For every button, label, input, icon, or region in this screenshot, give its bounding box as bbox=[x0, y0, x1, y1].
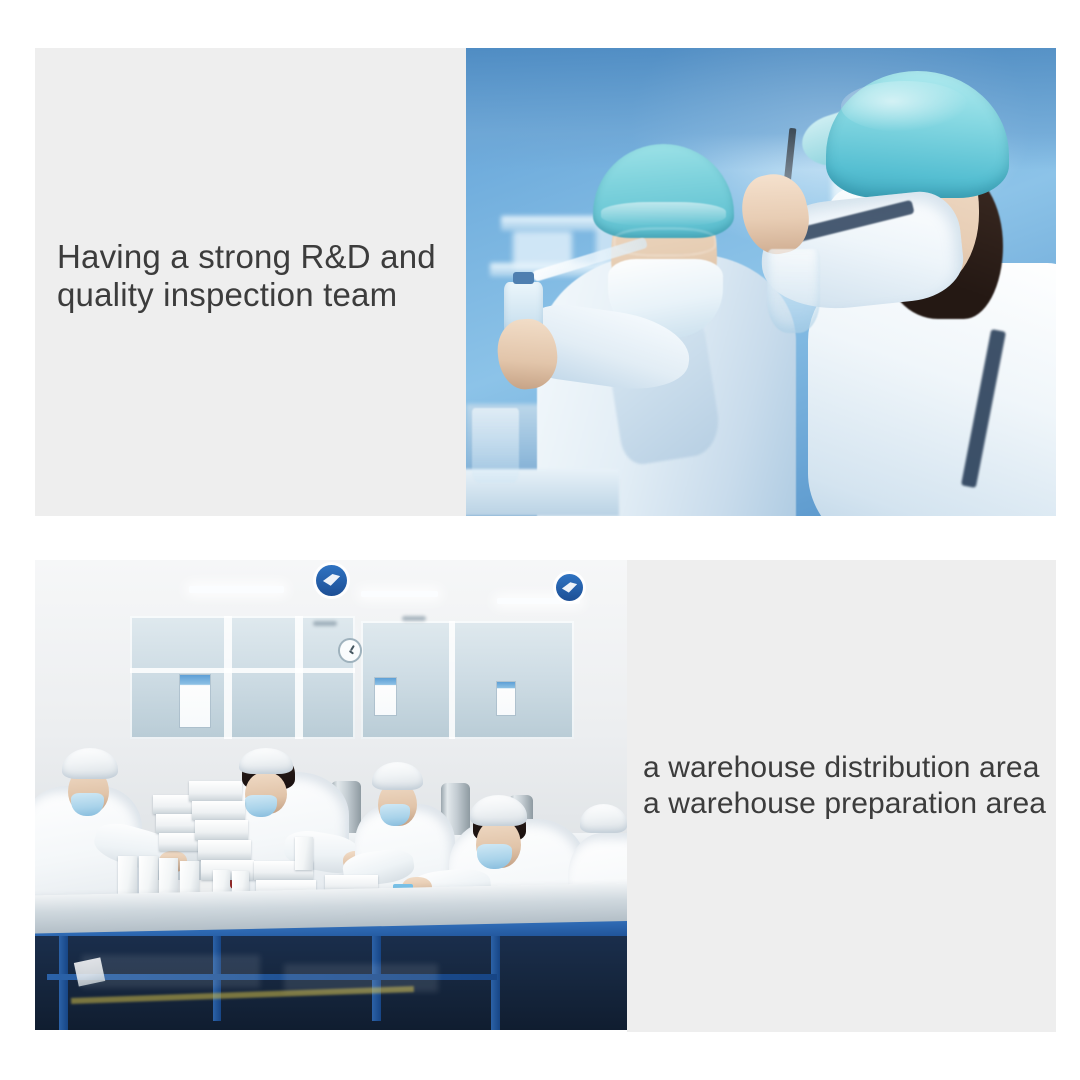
caption-panel-rd: Having a strong R&D and quality inspecti… bbox=[35, 48, 466, 516]
warehouse-scene bbox=[35, 560, 627, 1030]
table-leg bbox=[59, 936, 68, 1030]
carton-box bbox=[118, 856, 137, 898]
window-mullion bbox=[295, 616, 302, 738]
lab-quality-inspection-photo bbox=[466, 48, 1056, 516]
ceiling-light-icon bbox=[361, 591, 438, 598]
table-leg bbox=[491, 936, 500, 1030]
caption-rd-quality: Having a strong R&D and quality inspecti… bbox=[57, 238, 457, 315]
wall-hook-icon bbox=[313, 621, 337, 626]
carton-box bbox=[192, 801, 245, 821]
ceiling-light-icon bbox=[189, 586, 284, 594]
floor-reflection bbox=[82, 955, 260, 988]
carton-box bbox=[295, 837, 313, 870]
window-mullion bbox=[224, 616, 231, 738]
carton-box bbox=[195, 820, 248, 840]
carton-box bbox=[74, 957, 105, 986]
floor-reflection bbox=[284, 964, 438, 992]
blue-circular-sign-icon bbox=[316, 565, 347, 596]
lab-scene bbox=[466, 48, 1056, 516]
warehouse-packing-photo bbox=[35, 560, 627, 1030]
caption-panel-warehouse: a warehouse distribution area a warehous… bbox=[627, 560, 1056, 1032]
notice-poster-icon bbox=[180, 675, 210, 727]
section-rd-quality: Having a strong R&D and quality inspecti… bbox=[35, 48, 1056, 516]
section-warehouse: a warehouse distribution area a warehous… bbox=[35, 560, 1056, 1032]
face-mask-icon bbox=[245, 795, 277, 817]
window-mullion bbox=[449, 621, 455, 739]
beaker-icon bbox=[472, 408, 519, 483]
notice-poster-icon bbox=[375, 678, 395, 716]
cleanroom-window bbox=[130, 616, 355, 738]
wall-clock-icon bbox=[340, 640, 360, 661]
wall-hook-icon bbox=[402, 616, 426, 621]
caption-warehouse: a warehouse distribution area a warehous… bbox=[643, 750, 1063, 822]
carton-box bbox=[189, 781, 242, 801]
glass-flask-icon bbox=[767, 249, 820, 333]
window-mullion bbox=[130, 668, 355, 673]
hairnet-cap-icon bbox=[580, 804, 627, 832]
notice-poster-icon bbox=[497, 682, 515, 715]
carton-box bbox=[198, 840, 251, 860]
